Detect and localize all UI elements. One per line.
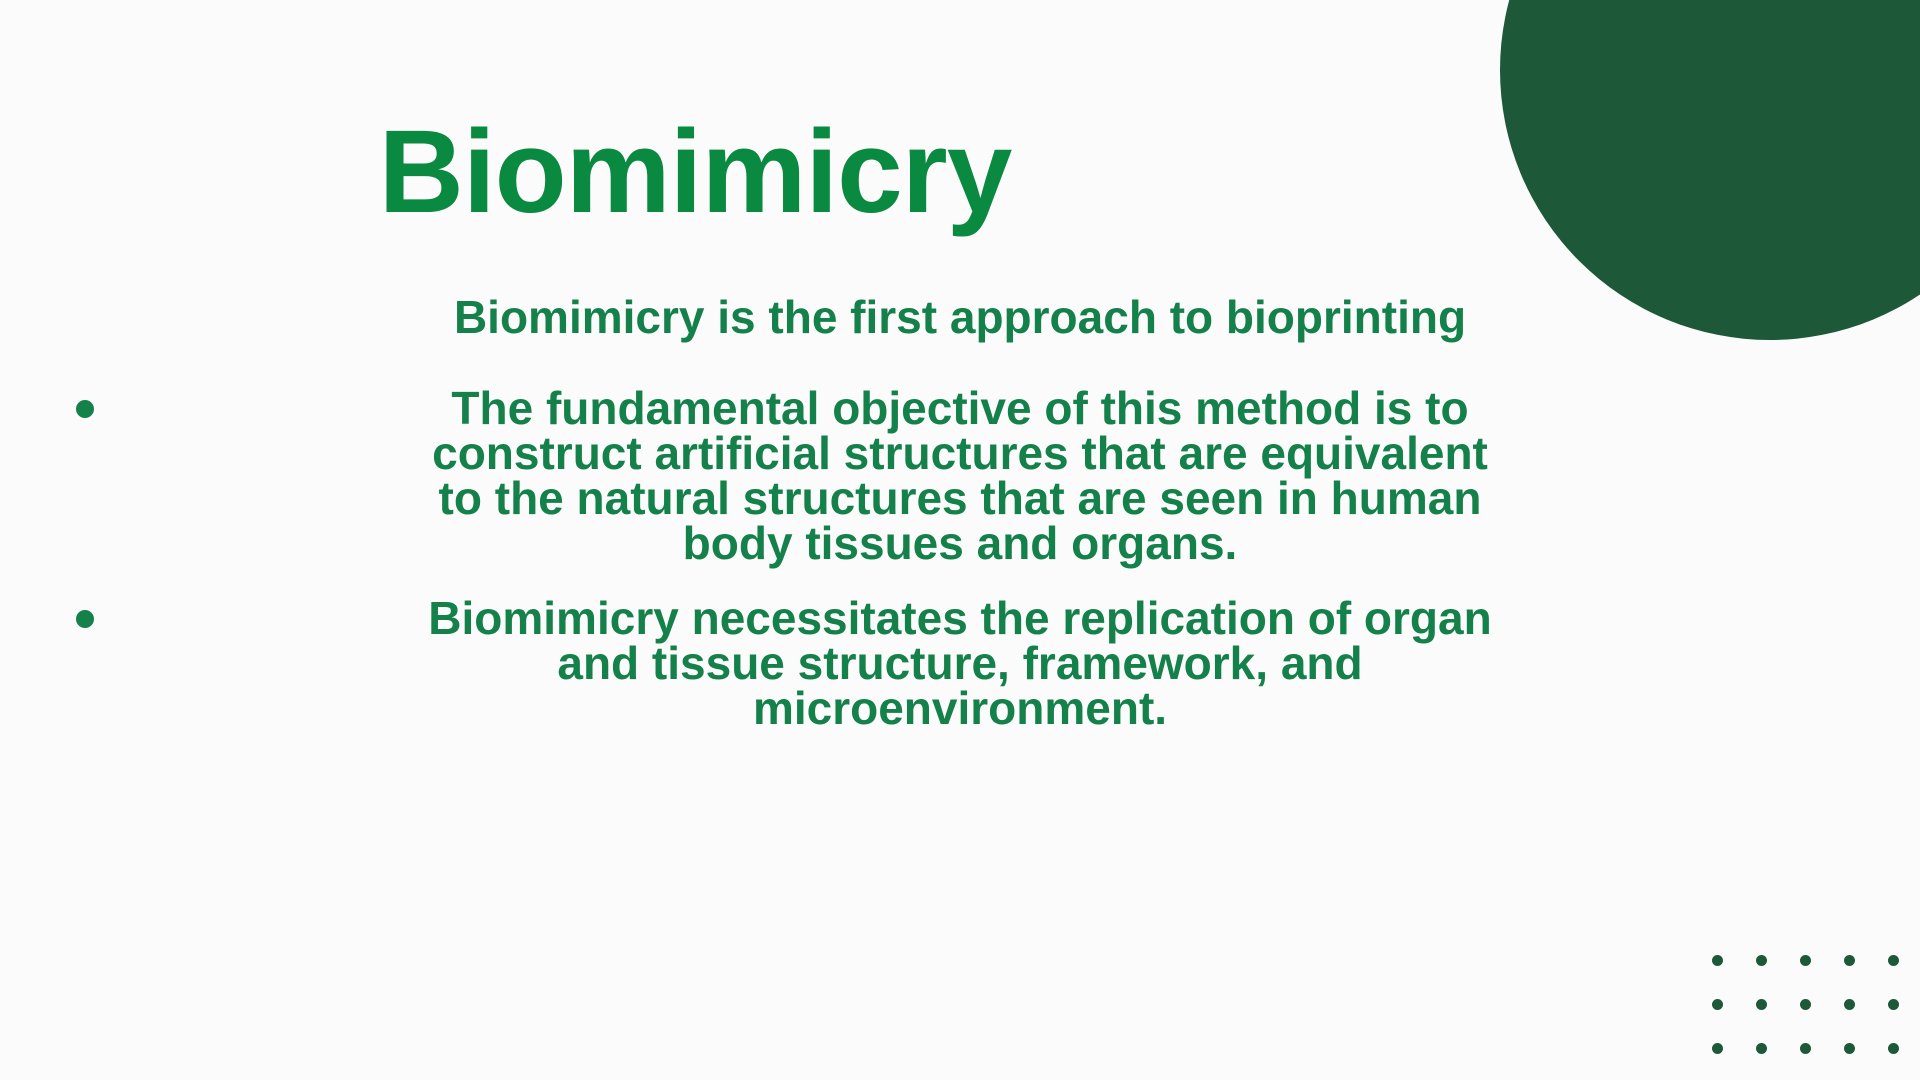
page-title: Biomimicry	[0, 105, 1390, 241]
grid-dot-icon	[1756, 999, 1767, 1010]
list-item: The fundamental objective of this method…	[40, 386, 1880, 566]
grid-dot-icon	[1756, 1043, 1767, 1054]
bullet-dot-icon	[76, 610, 94, 628]
bullet-line: microenvironment.	[150, 686, 1770, 731]
grid-dot-icon	[1800, 1043, 1811, 1054]
bullet-line: and tissue structure, framework, and	[150, 641, 1770, 686]
grid-dot-icon	[1844, 955, 1855, 966]
grid-dot-icon	[1888, 955, 1899, 966]
bullet-dot-icon	[76, 400, 94, 418]
slide-body: Biomimicry is the first approach to biop…	[40, 248, 1880, 732]
grid-dot-icon	[1888, 999, 1899, 1010]
bullet-line: Biomimicry necessitates the replication …	[150, 596, 1770, 641]
grid-dot-icon	[1888, 1043, 1899, 1054]
bullet-line: body tissues and organs.	[150, 521, 1770, 566]
grid-dot-icon	[1844, 999, 1855, 1010]
grid-dot-icon	[1844, 1043, 1855, 1054]
slide-canvas: Biomimicry Biomimicry is the first appro…	[0, 0, 1920, 1080]
bullet-line: construct artificial structures that are…	[150, 431, 1770, 476]
grid-dot-icon	[1712, 955, 1723, 966]
bullet-item-text-2: Biomimicry necessitates the replication …	[150, 596, 1770, 731]
bullet-line: The fundamental objective of this method…	[150, 386, 1770, 431]
bullet-list: The fundamental objective of this method…	[40, 386, 1880, 732]
grid-dot-icon	[1800, 999, 1811, 1010]
grid-dot-icon	[1800, 955, 1811, 966]
bullet-item-text-1: The fundamental objective of this method…	[150, 386, 1770, 566]
bullet-line: to the natural structures that are seen …	[150, 476, 1770, 521]
grid-dot-icon	[1712, 999, 1723, 1010]
grid-dot-icon	[1756, 955, 1767, 966]
dot-grid-decoration	[1712, 938, 1920, 1080]
list-item: Biomimicry necessitates the replication …	[40, 596, 1880, 731]
grid-dot-icon	[1712, 1043, 1723, 1054]
lead-statement: Biomimicry is the first approach to biop…	[40, 294, 1880, 340]
